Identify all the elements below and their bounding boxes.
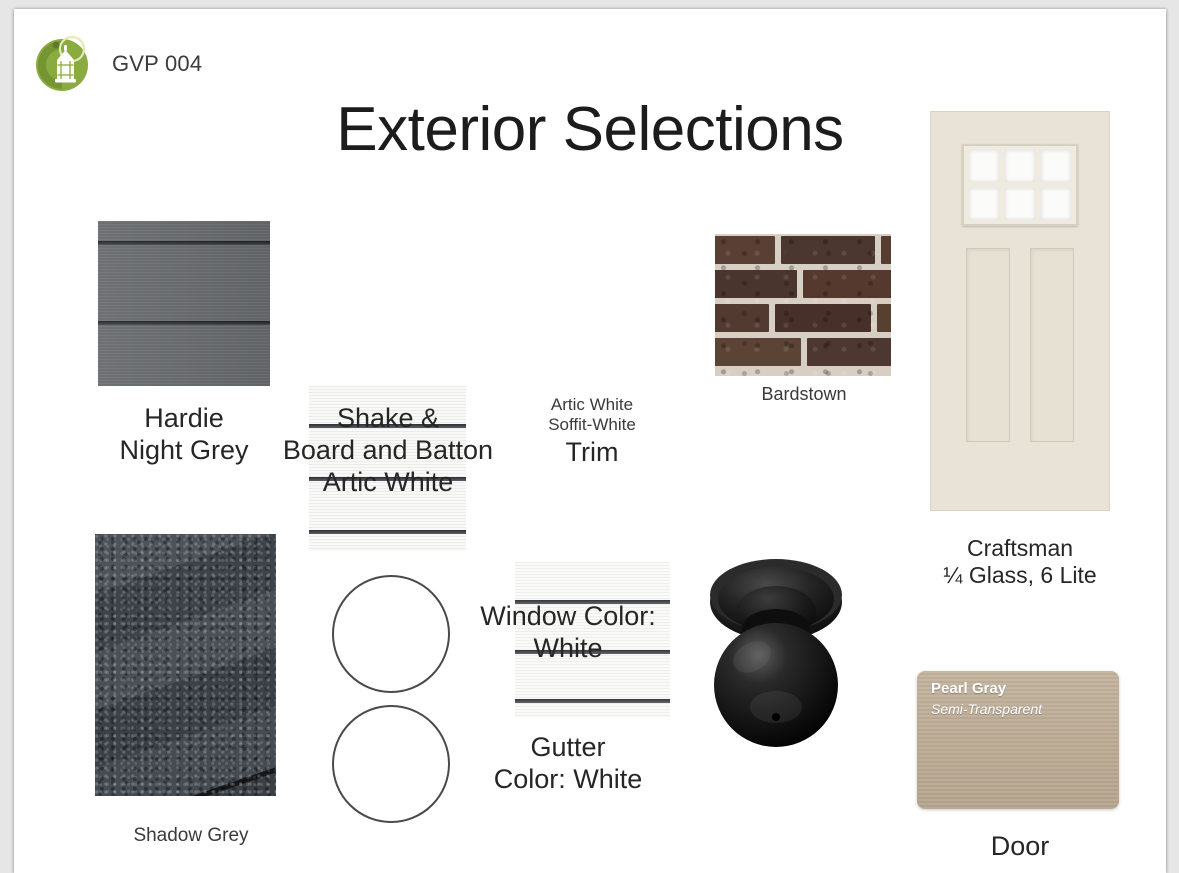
slide-canvas: GVP 004 Exterior Selections Hardie Night… — [14, 9, 1166, 873]
lantern-logo-icon — [32, 31, 98, 97]
caption-shake-board-batton: Shake & Board and Batton Artic White — [264, 403, 512, 499]
caption-line: Trim — [484, 437, 700, 469]
caption-line: White — [452, 633, 684, 665]
door-lite-frame — [962, 144, 1078, 226]
caption-line: Shake & — [264, 403, 512, 435]
swatch-hardie-night-grey — [98, 221, 270, 386]
swatch-pearl-gray-stain: Pearl Gray Semi-Transparent — [917, 671, 1119, 809]
caption-line: Bardstown — [704, 384, 904, 405]
caption-line: Window Color: — [452, 601, 684, 633]
caption-line: Soffit-White — [484, 415, 700, 435]
caption-shadow-grey: Shadow Grey — [96, 825, 286, 847]
caption-line: Door — [914, 831, 1126, 863]
brand-header: GVP 004 — [32, 31, 202, 97]
caption-door-stain: Door — [914, 831, 1126, 863]
caption-trim-small: Artic White Soffit-White — [484, 395, 700, 435]
caption-trim: Trim — [484, 437, 700, 469]
project-code-label: GVP 004 — [112, 51, 202, 77]
caption-line: ¼ Glass, 6 Lite — [914, 562, 1126, 589]
stain-card-title: Pearl Gray — [931, 680, 1006, 697]
door-panel-right — [1030, 248, 1074, 442]
door-panel-left — [966, 248, 1010, 442]
caption-bardstown: Bardstown — [704, 384, 904, 405]
caption-line: Shadow Grey — [96, 825, 286, 847]
swatch-gutter-color-circle — [332, 705, 450, 823]
caption-window-color: Window Color: White — [452, 601, 684, 665]
caption-line: Color: White — [452, 764, 684, 796]
swatch-craftsman-door — [930, 111, 1110, 511]
caption-line: Craftsman — [914, 535, 1126, 562]
caption-line: Gutter — [452, 732, 684, 764]
swatch-black-door-knob — [690, 557, 866, 769]
screenshot-root: GVP 004 Exterior Selections Hardie Night… — [0, 0, 1179, 873]
swatch-bardstown-brick — [715, 234, 891, 376]
swatch-shadow-grey-shingles — [95, 534, 276, 796]
caption-line: Artic White — [484, 395, 700, 415]
caption-craftsman-door: Craftsman ¼ Glass, 6 Lite — [914, 535, 1126, 589]
swatch-window-color-circle — [332, 575, 450, 693]
stain-card-subtitle: Semi-Transparent — [931, 701, 1042, 717]
caption-line: Board and Batton — [264, 435, 512, 467]
caption-gutter-color: Gutter Color: White — [452, 732, 684, 796]
caption-line: Artic White — [264, 467, 512, 499]
